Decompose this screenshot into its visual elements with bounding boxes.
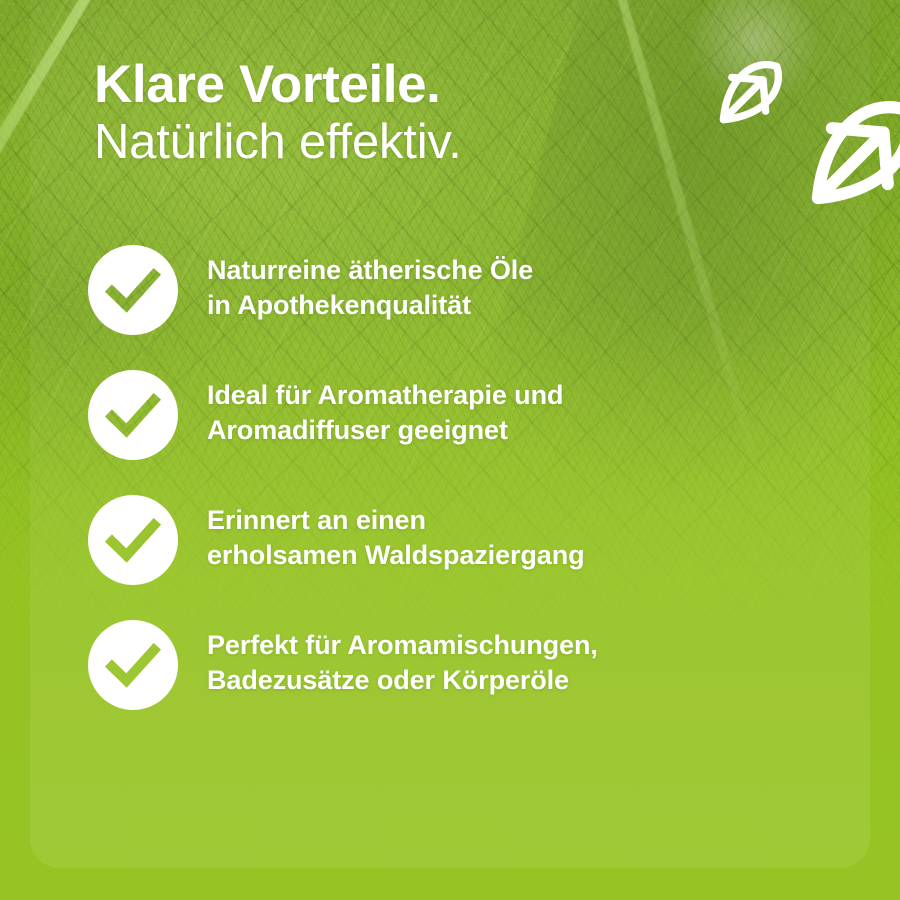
check-circle-icon (88, 245, 178, 335)
benefit-item: Perfekt für Aromamischungen, Badezusätze… (88, 620, 848, 710)
leaf-outline-icon (786, 78, 900, 230)
headline-line-1: Klare Vorteile. (94, 58, 461, 112)
benefit-item: Naturreine ätherische Öle in Apothekenqu… (88, 245, 848, 335)
check-circle-icon (88, 370, 178, 460)
leaf-outline-icon (704, 47, 796, 139)
benefit-text-line-2: erholsamen Waldspaziergang (207, 538, 848, 573)
benefit-text-line-1: Ideal für Aromatherapie und (207, 378, 848, 413)
benefit-text: Ideal für Aromatherapie und Aromadiffuse… (207, 370, 848, 448)
benefit-text-line-2: Badezusätze oder Körperöle (207, 663, 848, 698)
benefit-text-line-2: in Apothekenqualität (207, 288, 848, 323)
benefit-text-line-1: Erinnert an einen (207, 503, 848, 538)
benefit-text-line-2: Aromadiffuser geeignet (207, 413, 848, 448)
benefit-text: Naturreine ätherische Öle in Apothekenqu… (207, 245, 848, 323)
check-circle-icon (88, 620, 178, 710)
benefit-item: Erinnert an einen erholsamen Waldspazier… (88, 495, 848, 585)
promo-banner: Klare Vorteile. Natürlich effektiv. (0, 0, 900, 900)
headline: Klare Vorteile. Natürlich effektiv. (94, 58, 461, 168)
benefit-text: Erinnert an einen erholsamen Waldspazier… (207, 495, 848, 573)
benefit-text: Perfekt für Aromamischungen, Badezusätze… (207, 620, 848, 698)
benefit-text-line-1: Naturreine ätherische Öle (207, 253, 848, 288)
check-circle-icon (88, 495, 178, 585)
headline-line-2: Natürlich effektiv. (94, 118, 461, 168)
benefit-item: Ideal für Aromatherapie und Aromadiffuse… (88, 370, 848, 460)
benefit-text-line-1: Perfekt für Aromamischungen, (207, 628, 848, 663)
benefit-list: Naturreine ätherische Öle in Apothekenqu… (88, 245, 848, 710)
